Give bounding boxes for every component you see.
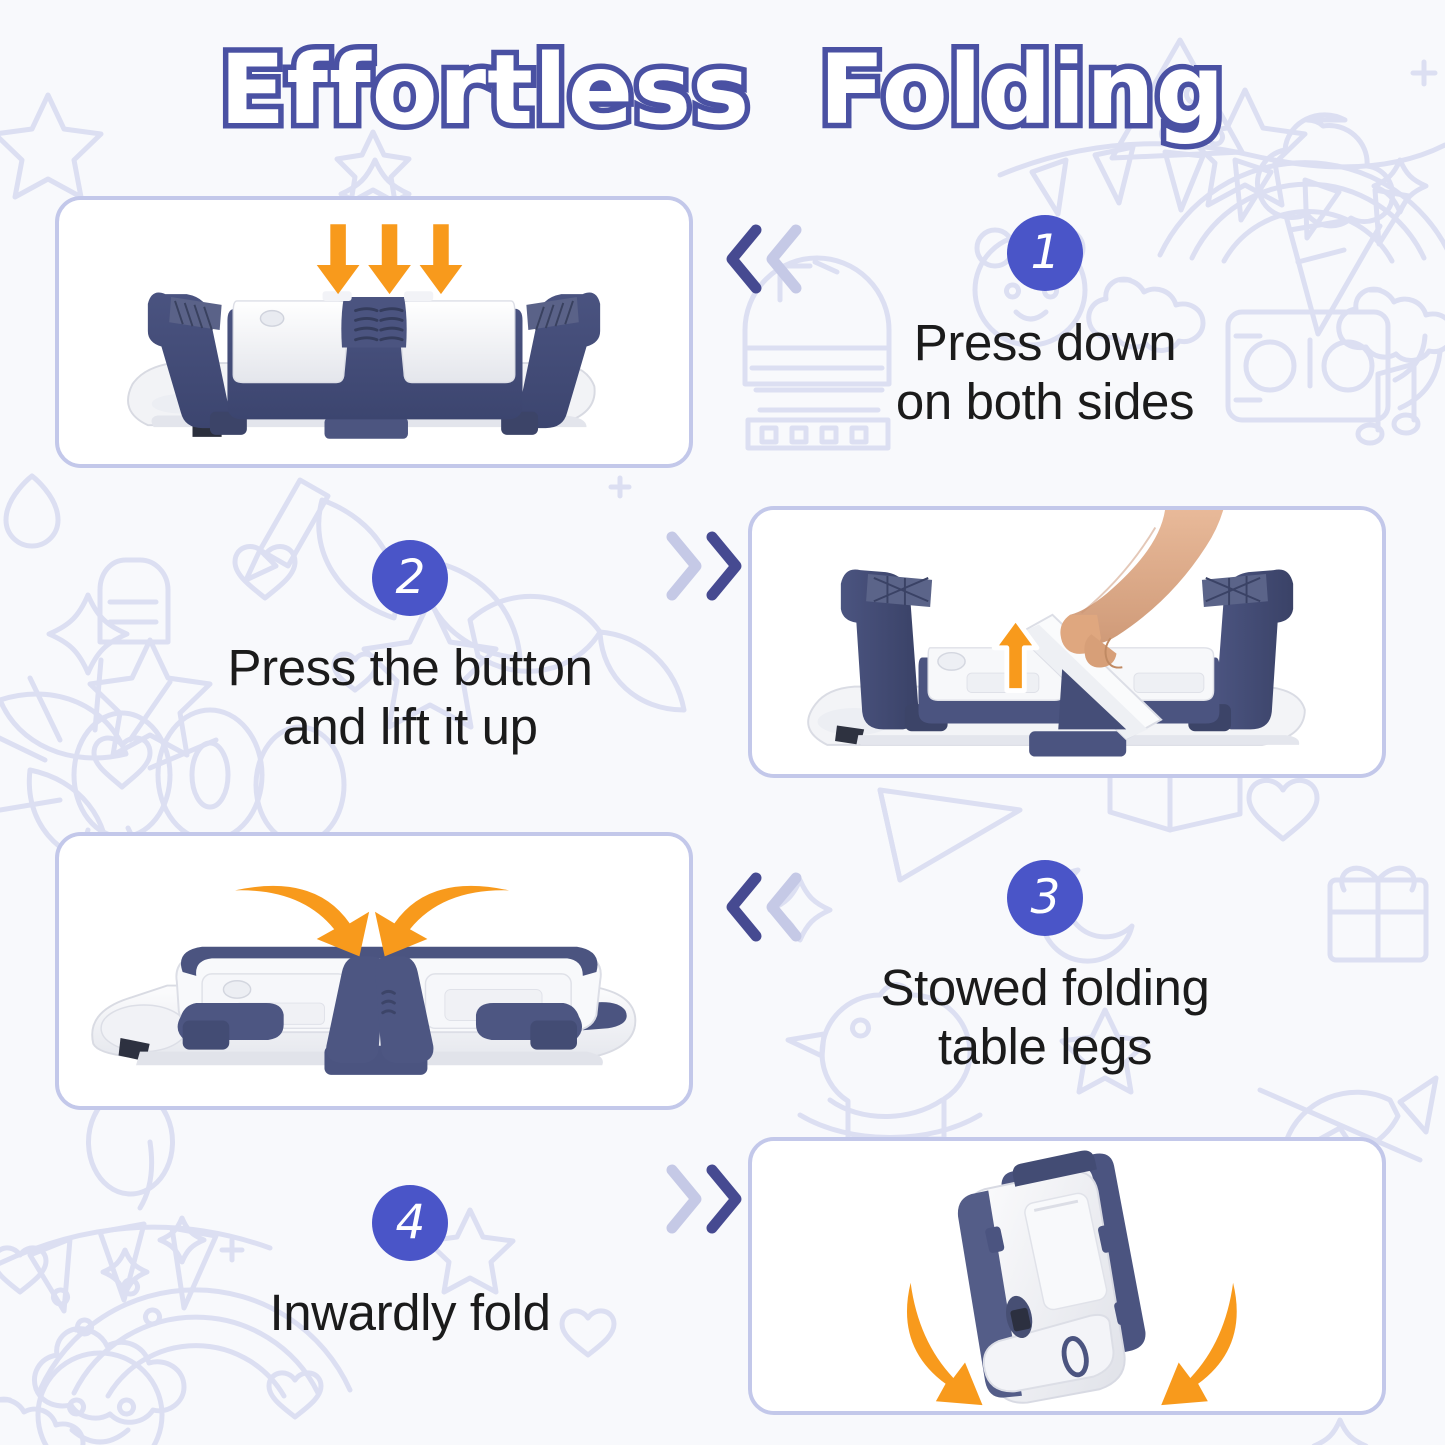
hand-lifting-board-photo <box>752 510 1382 774</box>
step-3-badge: 3 <box>1007 860 1083 936</box>
step-1-photo-card <box>55 196 693 468</box>
step-4-badge: 4 <box>372 1185 448 1261</box>
step-3-caption: Stowed folding table legs <box>790 958 1300 1076</box>
step-4-block: 4 Inwardly fold <box>150 1185 670 1342</box>
chevron-left-icon-3 <box>718 868 828 946</box>
step-2-badge: 2 <box>372 540 448 616</box>
step-1-block: 1 Press down on both sides <box>790 215 1300 431</box>
step-3-block: 3 Stowed folding table legs <box>790 860 1300 1076</box>
chevron-right-icon-2 <box>640 527 750 605</box>
step-3-photo-card <box>55 832 693 1110</box>
chevron-left-icon-1 <box>718 220 828 298</box>
step-1-caption: Press down on both sides <box>790 313 1300 431</box>
step-4-photo-card <box>748 1137 1386 1415</box>
step-4-caption: Inwardly fold <box>150 1283 670 1342</box>
step-2-photo-card <box>748 506 1386 778</box>
step-1-badge: 1 <box>1007 215 1083 291</box>
flat-folded-legs-photo <box>59 836 689 1106</box>
page-title: Effortless Folding <box>0 34 1445 146</box>
folding-table-pressed-down-photo <box>59 200 689 464</box>
step-2-block: 2 Press the button and lift it up <box>150 540 670 756</box>
step-2-caption: Press the button and lift it up <box>150 638 670 756</box>
chevron-right-icon-4 <box>640 1160 750 1238</box>
fully-folded-unit-photo <box>752 1141 1382 1411</box>
down-arrows-icon <box>317 224 463 294</box>
